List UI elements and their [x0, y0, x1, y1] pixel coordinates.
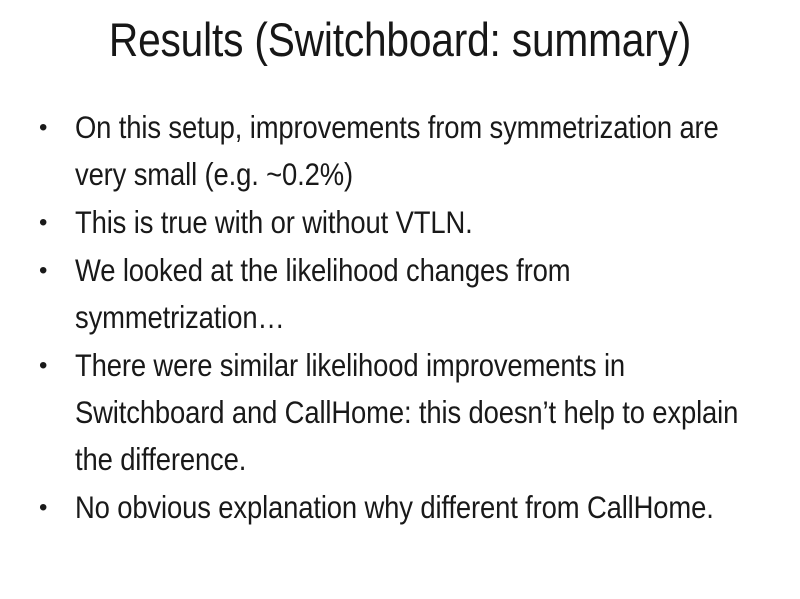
list-item: • No obvious explanation why different f… — [36, 484, 768, 531]
list-item-label: There were similar likelihood improvemen… — [75, 342, 768, 483]
list-item-label: We looked at the likelihood changes from… — [75, 247, 768, 341]
bullet-list: • On this setup, improvements from symme… — [36, 104, 768, 532]
list-item: • On this setup, improvements from symme… — [36, 104, 768, 198]
bullet-point-icon: • — [39, 342, 59, 389]
bullet-point-icon: • — [39, 484, 59, 531]
bullet-point-icon: • — [39, 104, 59, 151]
list-item-label: No obvious explanation why different fro… — [75, 484, 768, 531]
bullet-point-icon: • — [39, 247, 59, 294]
presentation-slide: Results (Switchboard: summary) • On this… — [0, 0, 800, 599]
page-title: Results (Switchboard: summary) — [89, 12, 712, 68]
list-item-label: This is true with or without VTLN. — [75, 199, 768, 246]
list-item: • We looked at the likelihood changes fr… — [36, 247, 768, 341]
list-item: • There were similar likelihood improvem… — [36, 342, 768, 483]
list-item-label: On this setup, improvements from symmetr… — [75, 104, 768, 198]
bullet-point-icon: • — [39, 199, 59, 246]
list-item: • This is true with or without VTLN. — [36, 199, 768, 246]
